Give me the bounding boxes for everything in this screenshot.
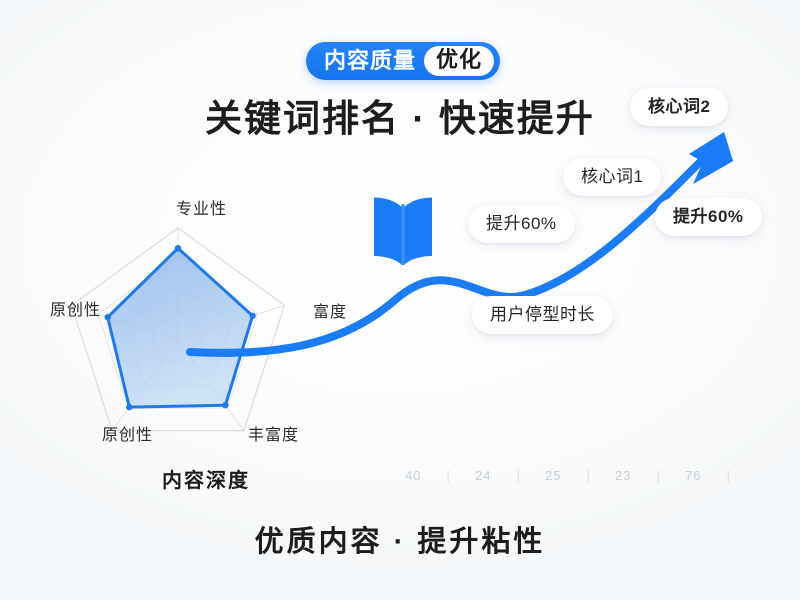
radar-axis-label-3: 原创性 (102, 421, 153, 445)
callout-dwell-time: 用户停型时长 (472, 296, 613, 334)
poster-canvas: 内容质量 优化 关键词排名 · 快速提升 专业性 富度 丰富度 原创性 原创性 … (0, 0, 800, 600)
radar-axis-label-4: 原创性 (50, 296, 101, 320)
badge-main-label: 内容质量 (324, 50, 424, 72)
callout-lift-left: 提升60% (468, 205, 575, 243)
callout-keyword-1: 核心词1 (563, 158, 661, 196)
axis-tick-value: 25 (545, 468, 561, 483)
axis-tick-value: 23 (615, 468, 631, 483)
open-book-icon (368, 186, 438, 274)
quality-badge: 内容质量 优化 (306, 42, 500, 80)
axis-tick-mark: | (657, 468, 660, 483)
axis-tick-value: 76 (685, 468, 701, 483)
axis-tick-mark: | (587, 468, 590, 483)
callout-lift-right: 提升60% (655, 198, 762, 236)
axis-tick-value: 24 (475, 468, 491, 483)
footer-title: 优质内容 · 提升粘性 (0, 518, 800, 560)
axis-tick-mark: | (447, 468, 450, 483)
axis-tick-value: 40 (405, 468, 421, 483)
growth-arrow-icon (180, 110, 760, 450)
axis-tick-mark: | (727, 468, 730, 483)
badge-chip-label: 优化 (424, 46, 494, 76)
axis-tick-row: 40|24|25|23|76| (405, 462, 755, 488)
axis-tick-mark: | (517, 468, 520, 483)
callout-keyword-2: 核心词2 (630, 88, 728, 126)
radar-caption: 内容深度 (162, 464, 250, 493)
